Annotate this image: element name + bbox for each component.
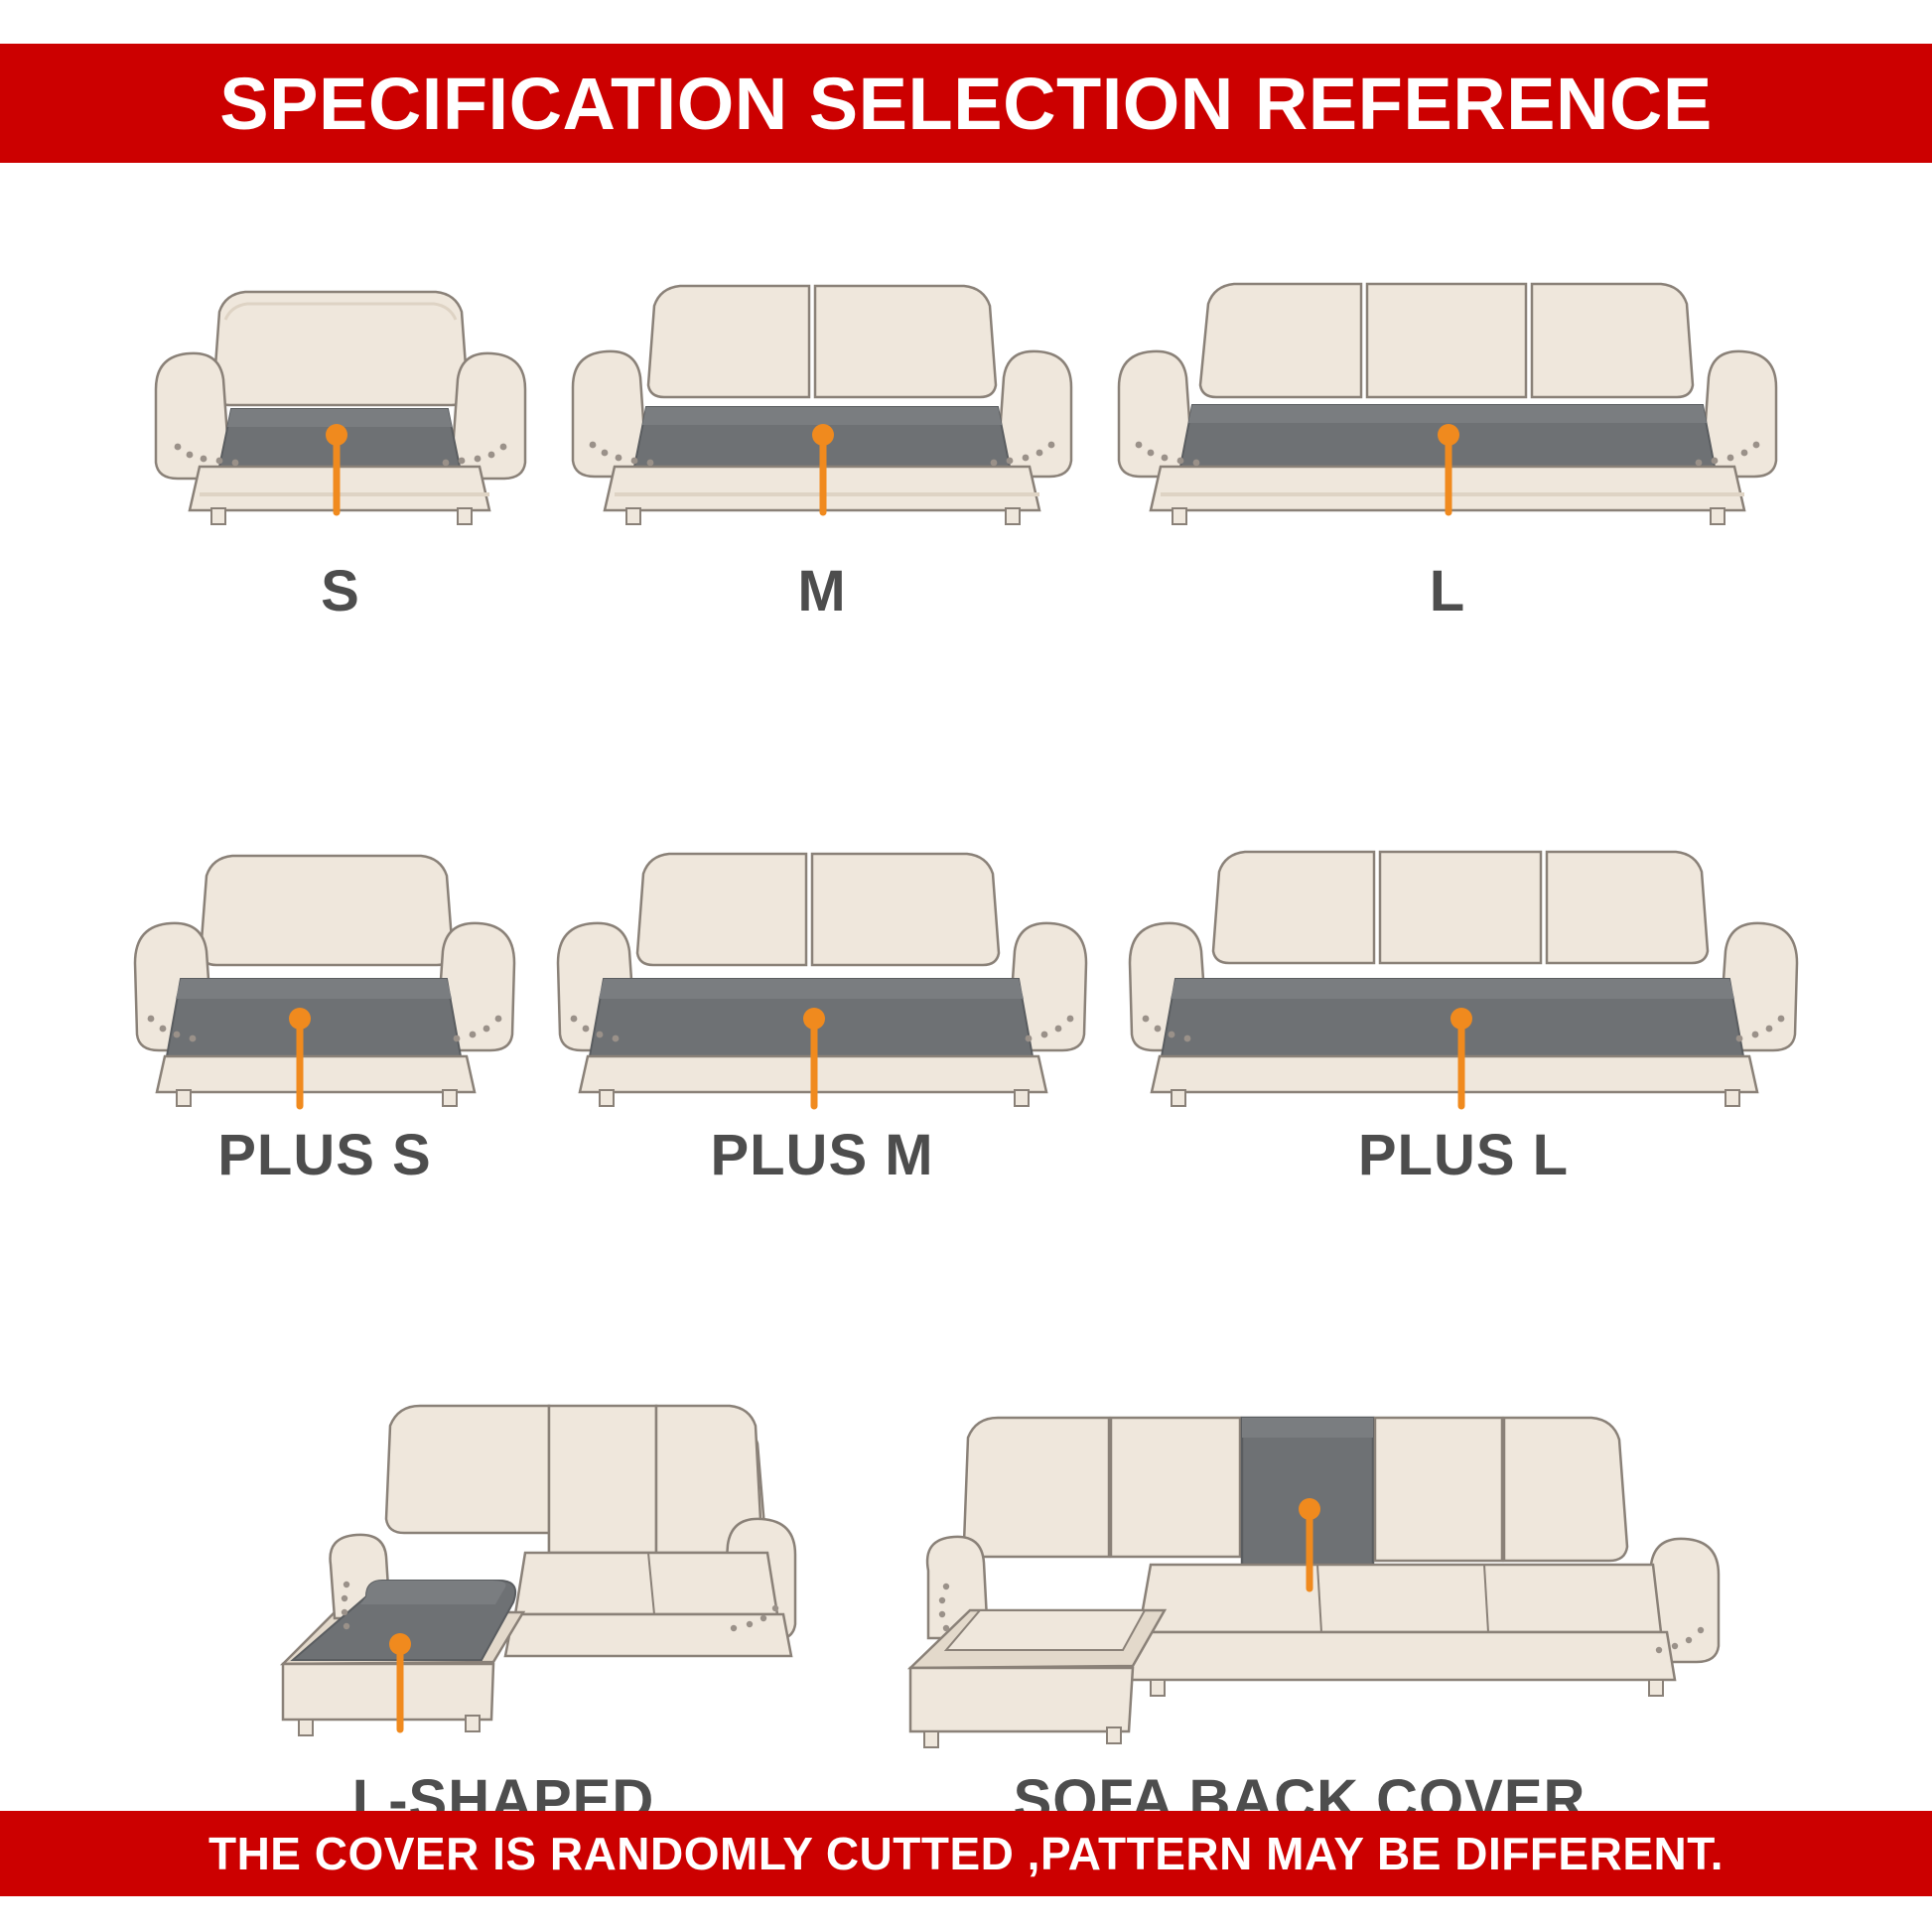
footer-banner: THE COVER IS RANDOMLY CUTTED ,PATTERN MA… — [0, 1811, 1932, 1896]
spec-item-m[interactable]: M — [559, 260, 1085, 624]
spec-item-sofa-back-cover[interactable]: SOFA BACK COVER — [863, 1370, 1736, 1834]
spec-item-plus-m[interactable]: PLUS M — [544, 824, 1100, 1188]
spec-item-s[interactable]: S — [142, 260, 539, 624]
sectional-back-illustration — [863, 1370, 1736, 1767]
page-title: SPECIFICATION SELECTION REFERENCE — [219, 62, 1712, 146]
footer-note: THE COVER IS RANDOMLY CUTTED ,PATTERN MA… — [208, 1827, 1724, 1880]
spec-item-l[interactable]: L — [1105, 260, 1790, 624]
spec-item-l-shaped[interactable]: L-SHAPED — [196, 1370, 811, 1834]
spec-caption-plus-l: PLUS L — [1358, 1122, 1569, 1188]
spec-caption-s: S — [321, 558, 360, 624]
row-special-shapes: L-SHAPED — [0, 1370, 1932, 1834]
spec-item-plus-l[interactable]: PLUS L — [1116, 824, 1811, 1188]
loveseat-illustration-plus-m — [544, 824, 1100, 1122]
spec-caption-m: M — [797, 558, 846, 624]
armchair-illustration-s — [142, 260, 539, 558]
spec-caption-plus-s: PLUS S — [217, 1122, 432, 1188]
spec-caption-plus-m: PLUS M — [710, 1122, 933, 1188]
sectional-chaise-illustration — [196, 1370, 811, 1767]
armchair-illustration-plus-s — [121, 824, 528, 1122]
row-standard-sizes: S — [0, 260, 1932, 624]
spec-item-plus-s[interactable]: PLUS S — [121, 824, 528, 1188]
sofa-illustration-l — [1105, 260, 1790, 558]
row-plus-sizes: PLUS S — [0, 824, 1932, 1188]
header-banner: SPECIFICATION SELECTION REFERENCE — [0, 44, 1932, 163]
sofa-illustration-plus-l — [1116, 824, 1811, 1122]
spec-caption-l: L — [1430, 558, 1465, 624]
loveseat-illustration-m — [559, 260, 1085, 558]
